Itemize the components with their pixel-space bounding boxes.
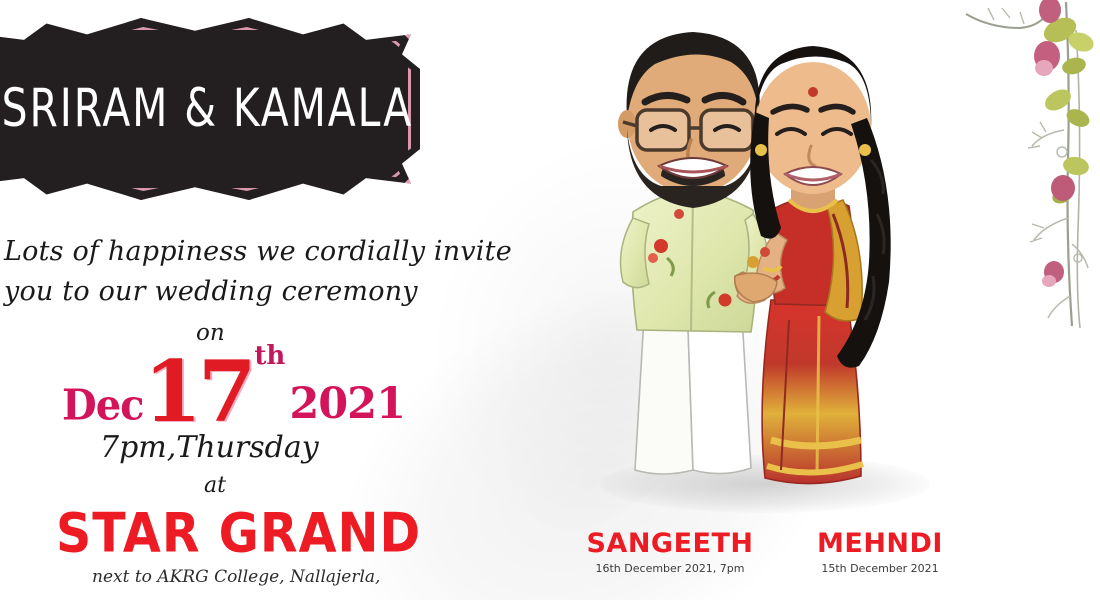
vine-svg <box>950 0 1100 330</box>
venue-name: STAR GRAND <box>56 502 421 565</box>
event-subtitle: 16th December 2021, 7pm <box>560 562 780 575</box>
floral-vine-decoration <box>950 0 1100 330</box>
names-badge: SRIRAM & KAMALA <box>0 18 420 200</box>
invite-line-2: you to our wedding ceremony <box>4 276 418 307</box>
date-ordinal: th <box>254 341 285 371</box>
date-day: 17 <box>144 358 253 425</box>
wedding-invitation-card: SRIRAM & KAMALA Lots of happiness we cor… <box>0 0 1100 600</box>
couple-names: SRIRAM & KAMALA <box>0 0 409 220</box>
wedding-date: Dec 17 th 2021 <box>62 345 405 425</box>
couple-caricature-illustration <box>575 0 935 500</box>
event-mehndi: MEHNDI 15th December 2021 <box>780 528 980 575</box>
date-year: 2021 <box>289 384 405 425</box>
event-sangeeth: SANGEETH 16th December 2021, 7pm <box>560 528 780 575</box>
at-word: at <box>204 473 226 498</box>
wedding-time: 7pm,Thursday <box>100 430 319 465</box>
invite-line-1: Lots of happiness we cordially invite <box>4 236 512 267</box>
date-month: Dec <box>62 386 144 426</box>
couple-svg <box>575 0 935 500</box>
event-title: SANGEETH <box>560 528 780 559</box>
event-title: MEHNDI <box>780 528 980 559</box>
event-subtitle: 15th December 2021 <box>780 562 980 575</box>
venue-address: next to AKRG College, Nallajerla, <box>92 567 380 587</box>
